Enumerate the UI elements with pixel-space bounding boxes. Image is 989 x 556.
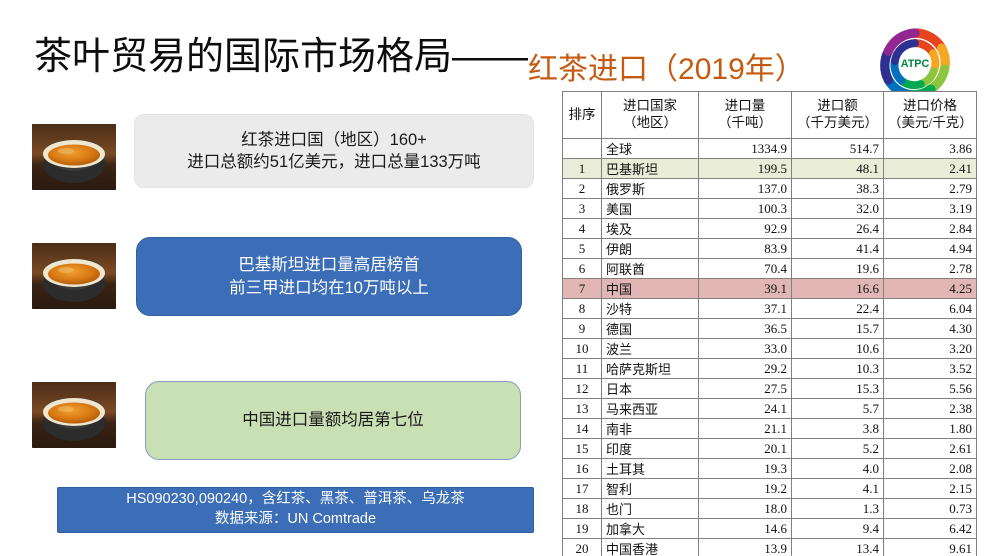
cell-rank: 18 [563, 499, 602, 519]
cell-rank: 10 [563, 339, 602, 359]
cell-price: 3.20 [884, 339, 977, 359]
cell-quantity: 19.2 [699, 479, 792, 499]
cell-quantity: 13.9 [699, 539, 792, 556]
cell-value: 4.1 [792, 479, 884, 499]
cell-price: 5.56 [884, 379, 977, 399]
table-header: 排序 进口国家 （地区） 进口量 （千吨） 进口额 （千万美元） [563, 92, 977, 139]
cell-quantity: 21.1 [699, 419, 792, 439]
cell-price: 2.08 [884, 459, 977, 479]
cell-quantity: 14.6 [699, 519, 792, 539]
cell-country: 南非 [602, 419, 699, 439]
cell-quantity: 33.0 [699, 339, 792, 359]
callout-overview: 红茶进口国（地区）160+ 进口总额约51亿美元，进口总量133万吨 [134, 114, 534, 188]
cell-country: 阿联酋 [602, 259, 699, 279]
cell-value: 5.7 [792, 399, 884, 419]
cell-quantity: 1334.9 [699, 139, 792, 159]
cell-country: 土耳其 [602, 459, 699, 479]
col-header-rank-line1: 排序 [567, 107, 597, 124]
cell-rank: 2 [563, 179, 602, 199]
col-header-rank: 排序 [563, 92, 602, 139]
table-header-row: 排序 进口国家 （地区） 进口量 （千吨） 进口额 （千万美元） [563, 92, 977, 139]
slide-canvas: 茶叶贸易的国际市场格局——红茶进口（2019年） AT [0, 0, 989, 556]
col-header-quantity-line2: （千吨） [703, 115, 787, 132]
page-title: 茶叶贸易的国际市场格局——红茶进口（2019年） [34, 26, 894, 88]
table-row: 16土耳其19.34.02.08 [563, 459, 977, 479]
cell-country: 哈萨克斯坦 [602, 359, 699, 379]
table-row: 4埃及92.926.42.84 [563, 219, 977, 239]
page-title-accent: 红茶进口（2019年） [528, 55, 805, 88]
svg-text:ATPC: ATPC [901, 58, 930, 70]
table-row: 15印度20.15.22.61 [563, 439, 977, 459]
cell-country: 中国 [602, 279, 699, 299]
cell-country: 中国香港 [602, 539, 699, 556]
table-body: 全球1334.9514.73.861巴基斯坦199.548.12.412俄罗斯1… [563, 139, 977, 556]
col-header-country-line1: 进口国家 [606, 98, 694, 115]
callout-pakistan-line2: 前三甲进口均在10万吨以上 [137, 277, 521, 299]
cell-rank: 1 [563, 159, 602, 179]
cell-quantity: 29.2 [699, 359, 792, 379]
col-header-value-line1: 进口额 [796, 98, 879, 115]
cell-country: 也门 [602, 499, 699, 519]
cell-price: 3.52 [884, 359, 977, 379]
cell-price: 2.41 [884, 159, 977, 179]
callout-pakistan: 巴基斯坦进口量高居榜首 前三甲进口均在10万吨以上 [136, 237, 522, 316]
table-row: 20中国香港13.913.49.61 [563, 539, 977, 556]
cell-country: 波兰 [602, 339, 699, 359]
cell-value: 41.4 [792, 239, 884, 259]
cell-rank: 19 [563, 519, 602, 539]
cell-rank: 15 [563, 439, 602, 459]
cell-price: 2.78 [884, 259, 977, 279]
cell-value: 5.2 [792, 439, 884, 459]
table-row: 7中国39.116.64.25 [563, 279, 977, 299]
cell-value: 26.4 [792, 219, 884, 239]
cell-price: 2.61 [884, 439, 977, 459]
cell-quantity: 100.3 [699, 199, 792, 219]
cell-price: 2.15 [884, 479, 977, 499]
callout-pakistan-line1: 巴基斯坦进口量高居榜首 [137, 254, 521, 276]
cell-quantity: 70.4 [699, 259, 792, 279]
col-header-quantity-line1: 进口量 [703, 98, 787, 115]
table-row: 13马来西亚24.15.72.38 [563, 399, 977, 419]
cell-price: 0.73 [884, 499, 977, 519]
import-data-table: 排序 进口国家 （地区） 进口量 （千吨） 进口额 （千万美元） [562, 91, 977, 556]
cell-quantity: 24.1 [699, 399, 792, 419]
cell-value: 4.0 [792, 459, 884, 479]
cell-value: 9.4 [792, 519, 884, 539]
cell-price: 6.04 [884, 299, 977, 319]
table-row: 2俄罗斯137.038.32.79 [563, 179, 977, 199]
cell-value: 32.0 [792, 199, 884, 219]
cell-country: 全球 [602, 139, 699, 159]
cell-price: 3.86 [884, 139, 977, 159]
table-row: 12日本27.515.35.56 [563, 379, 977, 399]
cell-value: 48.1 [792, 159, 884, 179]
cell-country: 印度 [602, 439, 699, 459]
cell-country: 埃及 [602, 219, 699, 239]
page-title-main: 茶叶贸易的国际市场格局—— [34, 38, 528, 76]
cell-value: 10.3 [792, 359, 884, 379]
cell-price: 1.80 [884, 419, 977, 439]
cell-value: 16.6 [792, 279, 884, 299]
table-row: 14南非21.13.81.80 [563, 419, 977, 439]
table-row: 5伊朗83.941.44.94 [563, 239, 977, 259]
table-row: 19加拿大14.69.46.42 [563, 519, 977, 539]
cell-value: 3.8 [792, 419, 884, 439]
cell-rank: 14 [563, 419, 602, 439]
cell-rank: 4 [563, 219, 602, 239]
table-row: 17智利19.24.12.15 [563, 479, 977, 499]
table-row: 18也门18.01.30.73 [563, 499, 977, 519]
table-row: 10波兰33.010.63.20 [563, 339, 977, 359]
col-header-country-line2: （地区） [606, 115, 694, 132]
callout-source-line1: HS090230,090240，含红茶、黑茶、普洱茶、乌龙茶 [58, 490, 533, 510]
cell-rank: 8 [563, 299, 602, 319]
tea-bowl-photo-1 [32, 124, 116, 190]
table-row: 8沙特37.122.46.04 [563, 299, 977, 319]
cell-country: 日本 [602, 379, 699, 399]
cell-price: 3.19 [884, 199, 977, 219]
cell-rank: 13 [563, 399, 602, 419]
cell-rank: 5 [563, 239, 602, 259]
cell-rank: 12 [563, 379, 602, 399]
table-row: 9德国36.515.74.30 [563, 319, 977, 339]
cell-quantity: 37.1 [699, 299, 792, 319]
cell-rank: 16 [563, 459, 602, 479]
cell-country: 德国 [602, 319, 699, 339]
cell-quantity: 92.9 [699, 219, 792, 239]
cell-rank: 11 [563, 359, 602, 379]
cell-value: 38.3 [792, 179, 884, 199]
cell-quantity: 83.9 [699, 239, 792, 259]
cell-rank [563, 139, 602, 159]
col-header-price: 进口价格 （美元/千克） [884, 92, 977, 139]
cell-country: 伊朗 [602, 239, 699, 259]
cell-price: 4.30 [884, 319, 977, 339]
import-data-table-container: 排序 进口国家 （地区） 进口量 （千吨） 进口额 （千万美元） [562, 91, 976, 556]
cell-price: 4.25 [884, 279, 977, 299]
cell-country: 马来西亚 [602, 399, 699, 419]
cell-rank: 6 [563, 259, 602, 279]
cell-country: 沙特 [602, 299, 699, 319]
cell-quantity: 27.5 [699, 379, 792, 399]
cell-country: 俄罗斯 [602, 179, 699, 199]
col-header-price-line2: （美元/千克） [888, 115, 972, 132]
cell-country: 智利 [602, 479, 699, 499]
cell-quantity: 137.0 [699, 179, 792, 199]
cell-quantity: 20.1 [699, 439, 792, 459]
col-header-country: 进口国家 （地区） [602, 92, 699, 139]
cell-quantity: 19.3 [699, 459, 792, 479]
cell-country: 加拿大 [602, 519, 699, 539]
cell-value: 15.3 [792, 379, 884, 399]
tea-bowl-photo-3 [32, 382, 116, 448]
cell-quantity: 18.0 [699, 499, 792, 519]
cell-value: 15.7 [792, 319, 884, 339]
col-header-value: 进口额 （千万美元） [792, 92, 884, 139]
table-row: 3美国100.332.03.19 [563, 199, 977, 219]
col-header-value-line2: （千万美元） [796, 115, 879, 132]
cell-value: 22.4 [792, 299, 884, 319]
cell-rank: 3 [563, 199, 602, 219]
cell-price: 4.94 [884, 239, 977, 259]
tea-bowl-photo-2 [32, 243, 116, 309]
cell-value: 514.7 [792, 139, 884, 159]
col-header-quantity: 进口量 （千吨） [699, 92, 792, 139]
table-row: 6阿联酋70.419.62.78 [563, 259, 977, 279]
cell-price: 2.79 [884, 179, 977, 199]
callout-china-line1: 中国进口量额均居第七位 [146, 409, 520, 431]
cell-price: 2.38 [884, 399, 977, 419]
cell-rank: 9 [563, 319, 602, 339]
atpc-logo-icon: ATPC [879, 28, 951, 100]
cell-value: 19.6 [792, 259, 884, 279]
callout-source-line2: 数据来源：UN Comtrade [58, 510, 533, 530]
callout-overview-line2: 进口总额约51亿美元，进口总量133万吨 [135, 151, 533, 173]
cell-country: 巴基斯坦 [602, 159, 699, 179]
cell-value: 13.4 [792, 539, 884, 556]
table-row: 全球1334.9514.73.86 [563, 139, 977, 159]
table-row: 11哈萨克斯坦29.210.33.52 [563, 359, 977, 379]
callout-overview-line1: 红茶进口国（地区）160+ [135, 129, 533, 151]
cell-value: 10.6 [792, 339, 884, 359]
table-row: 1巴基斯坦199.548.12.41 [563, 159, 977, 179]
cell-rank: 7 [563, 279, 602, 299]
cell-country: 美国 [602, 199, 699, 219]
cell-quantity: 36.5 [699, 319, 792, 339]
cell-price: 9.61 [884, 539, 977, 556]
callout-data-source: HS090230,090240，含红茶、黑茶、普洱茶、乌龙茶 数据来源：UN C… [57, 487, 534, 533]
cell-quantity: 199.5 [699, 159, 792, 179]
cell-rank: 20 [563, 539, 602, 556]
cell-quantity: 39.1 [699, 279, 792, 299]
cell-rank: 17 [563, 479, 602, 499]
callout-china: 中国进口量额均居第七位 [145, 381, 521, 460]
col-header-price-line1: 进口价格 [888, 98, 972, 115]
cell-price: 2.84 [884, 219, 977, 239]
cell-price: 6.42 [884, 519, 977, 539]
cell-value: 1.3 [792, 499, 884, 519]
